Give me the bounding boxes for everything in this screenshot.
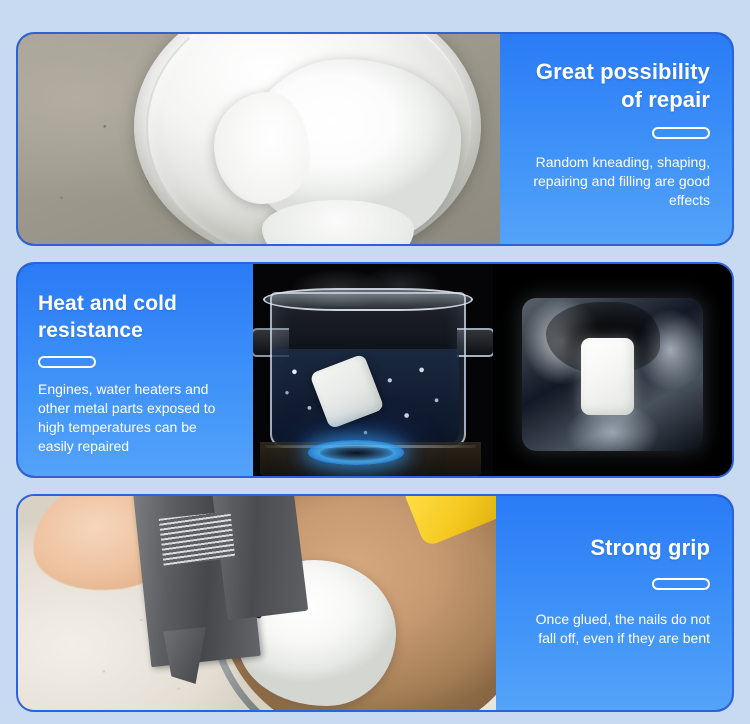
pill-divider-icon — [652, 127, 710, 139]
pill-divider-icon — [38, 356, 96, 368]
page-title: Strong grip — [590, 534, 710, 562]
card-body-text: Engines, water heaters and other metal p… — [38, 380, 231, 456]
title-line-1: Heat and cold — [38, 292, 177, 315]
title-line-1: Great possibility — [536, 59, 710, 84]
feature-card-heat-cold: Heat and coldresistance Engines, water h… — [16, 262, 734, 478]
page-title: Great possibilityof repair — [536, 58, 710, 114]
ice-block-photo — [493, 264, 732, 476]
title-line-2: of repair — [621, 87, 710, 112]
feature-card-repair: Great possibilityof repair Random kneadi… — [16, 32, 734, 246]
basin-repair-photo — [18, 34, 500, 244]
page-title: Heat and coldresistance — [38, 290, 177, 344]
title-line-2: resistance — [38, 319, 143, 342]
title-line-1: Strong grip — [590, 535, 710, 560]
putty-patch — [245, 59, 462, 240]
feature-card-strong-grip: Strong grip Once glued, the nails do not… — [16, 494, 734, 712]
putty-block-in-ice — [581, 338, 634, 414]
card-text-panel: Heat and coldresistance Engines, water h… — [18, 264, 253, 476]
boiling-pot-photo — [253, 264, 493, 476]
card-text-panel: Strong grip Once glued, the nails do not… — [496, 496, 732, 710]
pill-divider-icon — [652, 578, 710, 590]
pliers-bending-nail-photo — [18, 496, 496, 710]
pot-lip — [263, 288, 473, 311]
pot-handle-right — [457, 328, 493, 357]
plier-teeth — [159, 512, 235, 566]
card-text-panel: Great possibilityof repair Random kneadi… — [500, 34, 732, 244]
card-body-text: Once glued, the nails do not fall off, e… — [518, 610, 710, 648]
card-body-text: Random kneading, shaping, repairing and … — [522, 153, 710, 210]
